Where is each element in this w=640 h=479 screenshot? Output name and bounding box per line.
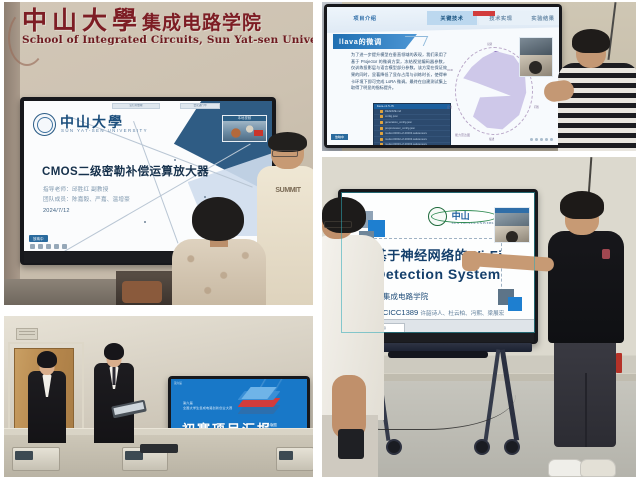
student-suit-right: [94, 343, 134, 443]
student-white-shirt-left: [322, 177, 388, 477]
sneaker: [548, 459, 584, 477]
slide-metadata: 指导老师：邱胜红 副教授 团队成员：陈嘉毅、严嘉、温增豪 2024/7/12: [43, 185, 130, 216]
radar-axis-label: OCR: [447, 69, 453, 72]
slide-eyebrow-line2: 全国大学生集成电路创新创业大赛: [183, 406, 232, 411]
display-screen: 项目介绍 关键技术 技术实现 实验结果 llava的微调 为了进一步提升模型在垂…: [327, 7, 559, 145]
tab-results[interactable]: 实验结果: [523, 11, 559, 25]
radar-caption: 能力雷达图: [455, 133, 470, 137]
sneaker: [580, 459, 616, 477]
student-suit-left: [28, 351, 66, 443]
wall-edge-shadow: [4, 2, 20, 305]
info-value-school: 集成电路学院: [383, 292, 429, 301]
university-name-english: SUN YAT-SEN UNIVERSITY: [61, 128, 148, 133]
university-seal-icon: [33, 113, 56, 136]
video-pip-thumbnail: [519, 37, 553, 77]
slide-advisor: 指导老师：邱胜红 副教授: [43, 185, 130, 195]
video-pip-thumbnail: [494, 207, 530, 243]
page-dot: [545, 138, 548, 141]
presenter-hair: [572, 29, 610, 53]
slide-statusbar-right: 会议进行中: [180, 103, 220, 109]
slide-team-members: 团队成员：陈嘉毅、严嘉、温增豪: [43, 195, 130, 205]
slide-node-dot: [174, 159, 176, 161]
slide-date: 2024/7/12: [43, 206, 130, 216]
file-name: generation_config.json: [385, 121, 412, 124]
slide-title: CMOS二级密勒补偿运算放大器: [42, 163, 209, 179]
file-icon: [380, 138, 383, 141]
audience-blouse: [172, 239, 266, 305]
tab-highlight-marker: [473, 11, 495, 16]
panel-bottom-right-wifi-detection: 中山 SUN YAT-SEN UNIVERSITY 基于神经网络的Wi-: [322, 157, 636, 477]
glasses-icon: [324, 221, 352, 228]
slide-statusbar-left: 幻灯片放映: [112, 103, 160, 109]
slide-taskbar: [30, 244, 67, 249]
shirt-logo: [602, 249, 610, 259]
banner-tail-decoration: [401, 36, 428, 46]
caster-wheel: [474, 439, 490, 455]
lab-instrument: [276, 447, 313, 471]
interactive-display-panel: 项目介绍 关键技术 技术实现 实验结果 llava的微调 为了进一步提升模型在垂…: [324, 4, 562, 148]
file-icon: [380, 143, 383, 145]
slide-page-dots: [530, 138, 553, 141]
stool: [122, 281, 162, 303]
info-value-team: CICC1389: [383, 308, 418, 317]
panel-bottom-left-preliminary-report: 第六届 第六届 全国大学生集成电路创新创业大赛 初赛项目汇报 题目：基于CMOS…: [4, 316, 313, 477]
status-badge: 放映中: [29, 235, 48, 242]
file-name: README.md: [385, 110, 401, 113]
caster-wheel: [504, 439, 520, 455]
taskbar-icon: [62, 244, 67, 249]
slide-body-text: 为了进一步提升模型在垂直领域的表现，我们采用了基于 Projector 的微调方…: [351, 52, 447, 92]
student-hair: [37, 351, 57, 368]
caster-wheel: [386, 439, 402, 455]
file-name: model-00002-of-00003.safetensors: [385, 138, 427, 141]
taskbar-icon: [54, 244, 59, 249]
institution-marks: 中山 SUN YAT-SEN UNIVERSITY: [428, 207, 500, 226]
file-icon: [380, 110, 383, 113]
page-dot: [530, 138, 533, 141]
black-tshirt: [548, 231, 624, 343]
radar-axis-label: 问答: [534, 105, 539, 109]
pointing-hand: [462, 251, 480, 271]
presenter-striped-shirt: [558, 29, 636, 151]
shirt-graphic: SUMMIT: [273, 187, 303, 209]
slide-dashed-line: [374, 238, 502, 239]
file-list-panel: llava-v1.5-7b README.md config.json gene…: [373, 103, 451, 145]
status-badge: 放映中: [331, 134, 348, 140]
taskbar-icon: [38, 244, 43, 249]
info-value-team-members: 许韶诗人、杜云柏、冯熙、梁展宏: [420, 311, 504, 317]
file-name: model-00003-of-00003.safetensors: [385, 143, 427, 145]
student-hair: [104, 343, 124, 360]
wall-vent: [16, 328, 38, 340]
file-icon: [380, 132, 383, 135]
floor: [4, 279, 122, 305]
tab-project-intro[interactable]: 项目介绍: [343, 11, 387, 25]
pip-sky: [495, 213, 529, 226]
necktie: [113, 367, 116, 385]
panel-top-right-llava-presentation: 项目介绍 关键技术 技术实现 实验结果 llava的微调 为了进一步提升模型在垂…: [322, 2, 636, 151]
handheld-phone: [338, 429, 364, 459]
slide-eyebrow: 第六届 全国大学生集成电路创新创业大赛: [183, 401, 232, 411]
university-seal-icon: [428, 207, 447, 226]
pip-upper-image: [520, 38, 552, 55]
file-icon: [380, 115, 383, 118]
file-icon: [380, 121, 383, 124]
tab-key-technology[interactable]: 关键技术: [427, 11, 477, 25]
striped-shirt: [558, 63, 636, 151]
taskbar-icon: [30, 244, 35, 249]
pip-lower-image: [520, 55, 552, 76]
radar-axis-label: 定位: [447, 105, 452, 109]
radar-axis-label: 描述: [489, 137, 494, 141]
audience-hair: [192, 197, 244, 241]
glasses-icon: [272, 150, 298, 157]
slide-header-note: 第六届: [174, 381, 182, 385]
file-name: model-00001-of-00003.safetensors: [385, 132, 427, 135]
file-name: config.json: [385, 115, 398, 118]
page-dot: [550, 138, 553, 141]
audience-seated: [172, 197, 266, 305]
page-dot: [540, 138, 543, 141]
photo-collage: 中山大學集成电路学院 School of Integrated Circuits…: [0, 0, 640, 479]
panel-top-left-cmos-presentation: 中山大學集成电路学院 School of Integrated Circuits…: [4, 2, 313, 305]
pip-ground: [495, 226, 529, 242]
keyboard: [140, 444, 178, 453]
file-row: model-00003-of-00003.safetensors: [374, 143, 450, 145]
presenter-hair: [560, 191, 604, 219]
chip-illustration: [241, 391, 281, 419]
stand-tray: [388, 351, 488, 358]
trousers: [554, 339, 616, 447]
radar-axis-label: 识别: [487, 42, 492, 46]
page-dot: [535, 138, 538, 141]
slide-decoration-square-accent: [508, 297, 522, 311]
slide-llava-finetune: 项目介绍 关键技术 技术实现 实验结果 llava的微调 为了进一步提升模型在垂…: [327, 7, 559, 145]
slide-node-dot: [144, 221, 146, 223]
presenter-hair: [268, 132, 307, 152]
file-icon: [380, 127, 383, 130]
lab-instrument: [12, 447, 60, 471]
presenter-black-tee-right: [534, 191, 630, 477]
taskbar-icon: [46, 244, 51, 249]
floor-cable: [366, 371, 516, 430]
file-name: preprocessor_config.json: [385, 127, 415, 130]
